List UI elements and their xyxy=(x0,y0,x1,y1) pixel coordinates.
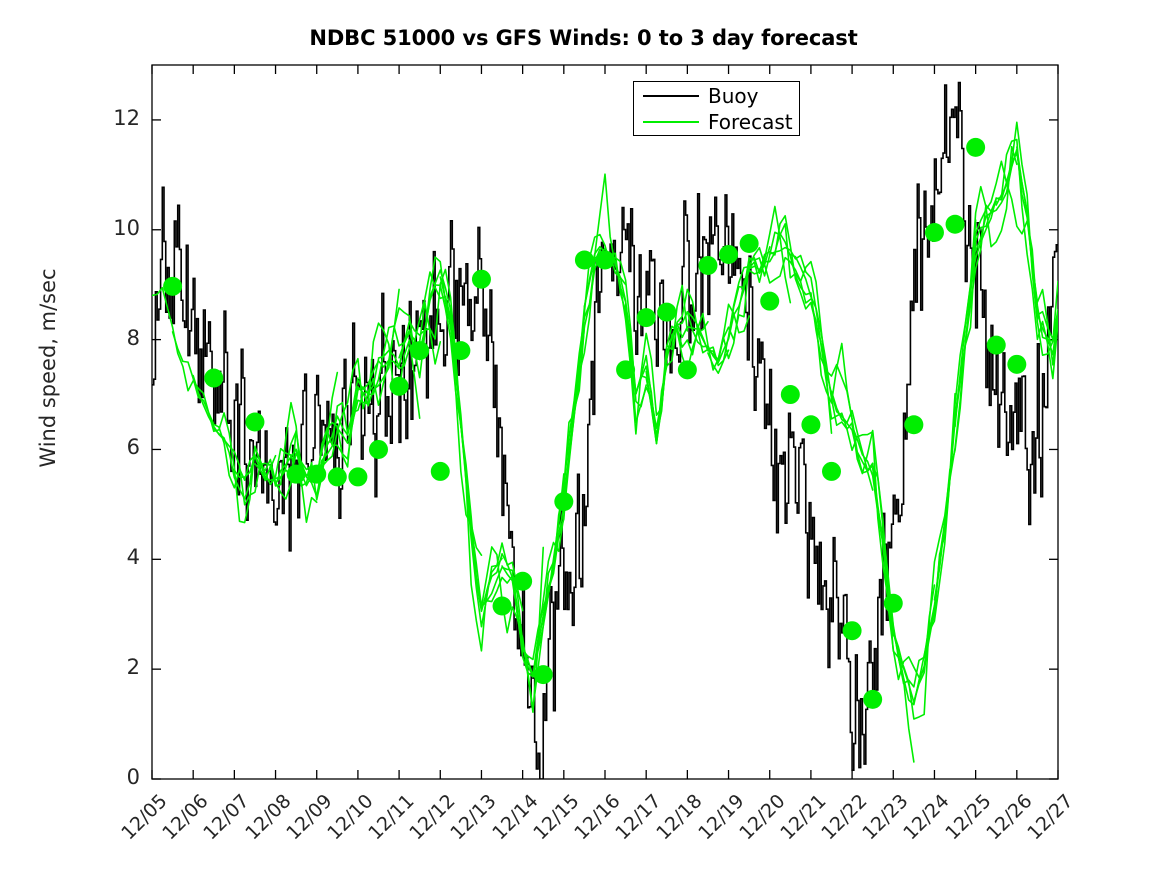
legend[interactable]: Buoy Forecast xyxy=(633,81,800,136)
legend-swatch-buoy xyxy=(643,95,699,97)
legend-item-buoy[interactable]: Buoy xyxy=(634,83,799,109)
plot-area xyxy=(0,0,1167,875)
legend-label-forecast: Forecast xyxy=(708,112,793,132)
y-tick-label: 0 xyxy=(36,765,140,789)
y-tick-label: 12 xyxy=(36,106,140,130)
figure-canvas: NDBC 51000 vs GFS Winds: 0 to 3 day fore… xyxy=(0,0,1167,875)
y-tick-label: 8 xyxy=(36,326,140,350)
legend-swatch-forecast xyxy=(643,121,699,123)
y-tick-label: 4 xyxy=(36,545,140,569)
legend-label-buoy: Buoy xyxy=(708,86,758,106)
y-tick-label: 6 xyxy=(36,435,140,459)
legend-item-forecast[interactable]: Forecast xyxy=(634,109,799,135)
y-tick-label: 10 xyxy=(36,216,140,240)
y-tick-label: 2 xyxy=(36,655,140,679)
